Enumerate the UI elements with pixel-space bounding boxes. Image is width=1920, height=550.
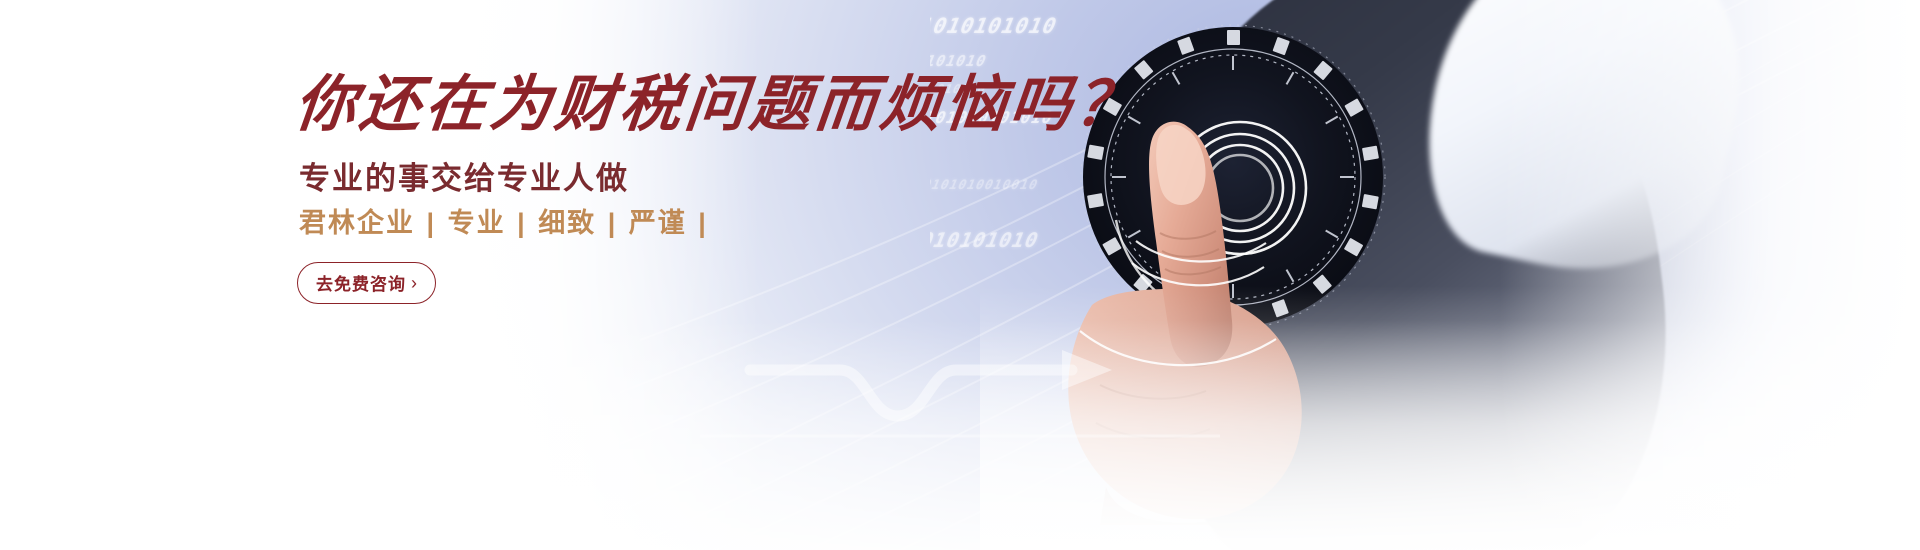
banner-tagline: 君林企业 | 专业 | 细致 | 严谨 | [299, 207, 710, 239]
tagline-item-2: 严谨 [629, 208, 687, 238]
hero-banner: 1010101010 10101010 101010010 1010101010… [0, 0, 1920, 550]
cta-label: 去免费咨询 [316, 270, 406, 295]
chevron-right-icon: › [411, 274, 418, 292]
tagline-brand: 君林企业 [299, 208, 415, 238]
free-consultation-button[interactable]: 去免费咨询 › [297, 262, 436, 304]
banner-headline: 你还在为财税问题而烦恼吗？ [291, 72, 1143, 139]
right-white-fade [1500, 0, 1920, 550]
banner-content: 你还在为财税问题而烦恼吗？ 专业的事交给专业人做 君林企业 | 专业 | 细致 … [295, 0, 995, 550]
tagline-separator: | [696, 208, 710, 238]
tagline-separator: | [515, 208, 529, 238]
banner-subtitle: 专业的事交给专业人做 [299, 160, 629, 197]
tagline-separator: | [606, 208, 620, 238]
tagline-item-0: 专业 [448, 208, 506, 238]
tagline-separator: | [425, 208, 439, 238]
tagline-item-1: 细致 [538, 208, 596, 238]
